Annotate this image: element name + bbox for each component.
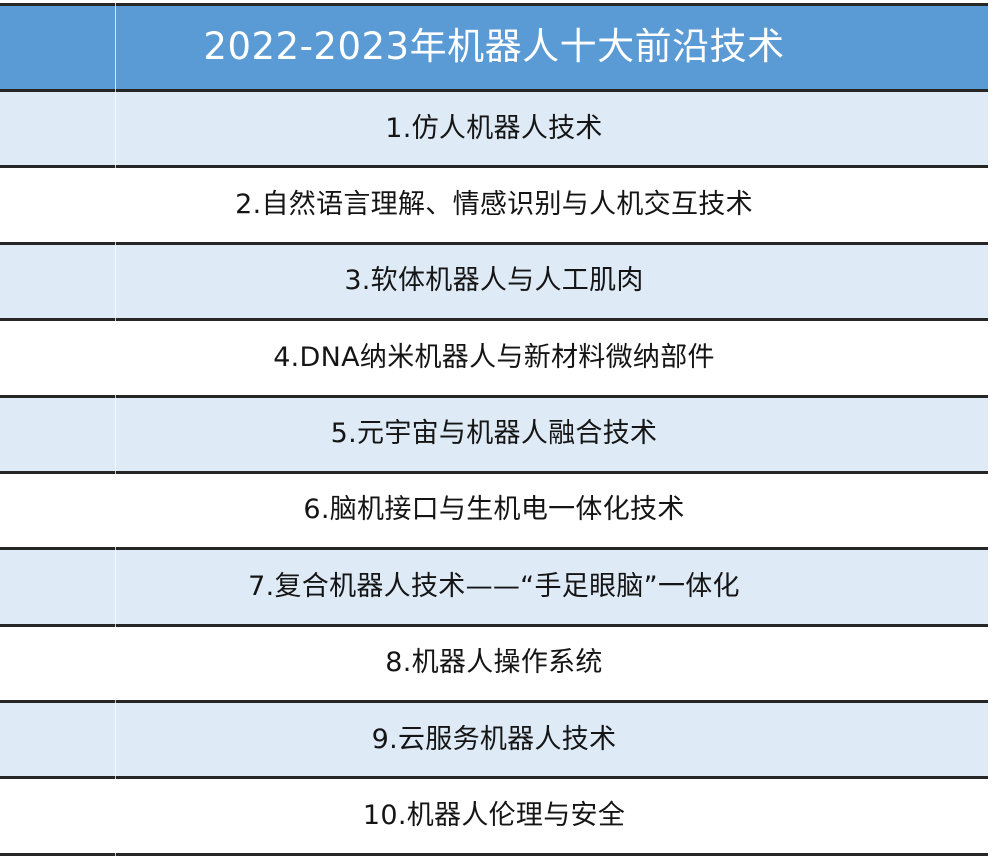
- technology-label-9: 9.云服务机器人技术: [0, 726, 988, 754]
- technology-cell-8[interactable]: 8.机器人操作系统: [0, 625, 988, 701]
- top-technologies-table: 2022-2023年机器人十大前沿技术 1.仿人机器人技术 2.自然语言理解、情…: [0, 3, 988, 856]
- technology-cell-1[interactable]: 1.仿人机器人技术: [0, 91, 988, 167]
- technology-label-10: 10.机器人伦理与安全: [0, 802, 988, 830]
- table-title-cell: 2022-2023年机器人十大前沿技术: [0, 5, 988, 91]
- technology-label-5: 5.元宇宙与机器人融合技术: [0, 420, 988, 448]
- table-row[interactable]: 6.脑机接口与生机电一体化技术: [0, 472, 988, 548]
- technology-cell-10[interactable]: 10.机器人伦理与安全: [0, 778, 988, 855]
- technology-cell-4[interactable]: 4.DNA纳米机器人与新材料微纳部件: [0, 320, 988, 396]
- table-row[interactable]: 7.复合机器人技术——“手足眼脑”一体化: [0, 549, 988, 625]
- table-row[interactable]: 1.仿人机器人技术: [0, 91, 988, 167]
- table-row[interactable]: 10.机器人伦理与安全: [0, 778, 988, 855]
- technology-label-8: 8.机器人操作系统: [0, 649, 988, 677]
- table-header-row: 2022-2023年机器人十大前沿技术: [0, 5, 988, 91]
- table-row[interactable]: 9.云服务机器人技术: [0, 702, 988, 778]
- table-body: 2022-2023年机器人十大前沿技术 1.仿人机器人技术 2.自然语言理解、情…: [0, 5, 988, 855]
- page-root: 2022-2023年机器人十大前沿技术 1.仿人机器人技术 2.自然语言理解、情…: [0, 0, 1000, 860]
- table-row[interactable]: 3.软体机器人与人工肌肉: [0, 243, 988, 319]
- technology-cell-2[interactable]: 2.自然语言理解、情感识别与人机交互技术: [0, 167, 988, 243]
- technology-label-2: 2.自然语言理解、情感识别与人机交互技术: [0, 191, 988, 219]
- table-row[interactable]: 8.机器人操作系统: [0, 625, 988, 701]
- technology-cell-9[interactable]: 9.云服务机器人技术: [0, 702, 988, 778]
- table-row[interactable]: 4.DNA纳米机器人与新材料微纳部件: [0, 320, 988, 396]
- technology-label-4: 4.DNA纳米机器人与新材料微纳部件: [0, 344, 988, 372]
- technology-label-6: 6.脑机接口与生机电一体化技术: [0, 496, 988, 524]
- technology-label-1: 1.仿人机器人技术: [0, 115, 988, 143]
- page-title: 2022-2023年机器人十大前沿技术: [0, 28, 988, 67]
- technology-cell-3[interactable]: 3.软体机器人与人工肌肉: [0, 243, 988, 319]
- technology-cell-7[interactable]: 7.复合机器人技术——“手足眼脑”一体化: [0, 549, 988, 625]
- table-row[interactable]: 2.自然语言理解、情感识别与人机交互技术: [0, 167, 988, 243]
- technology-label-7: 7.复合机器人技术——“手足眼脑”一体化: [0, 573, 988, 601]
- technology-label-3: 3.软体机器人与人工肌肉: [0, 267, 988, 295]
- technology-cell-6[interactable]: 6.脑机接口与生机电一体化技术: [0, 472, 988, 548]
- technology-cell-5[interactable]: 5.元宇宙与机器人融合技术: [0, 396, 988, 472]
- table-row[interactable]: 5.元宇宙与机器人融合技术: [0, 396, 988, 472]
